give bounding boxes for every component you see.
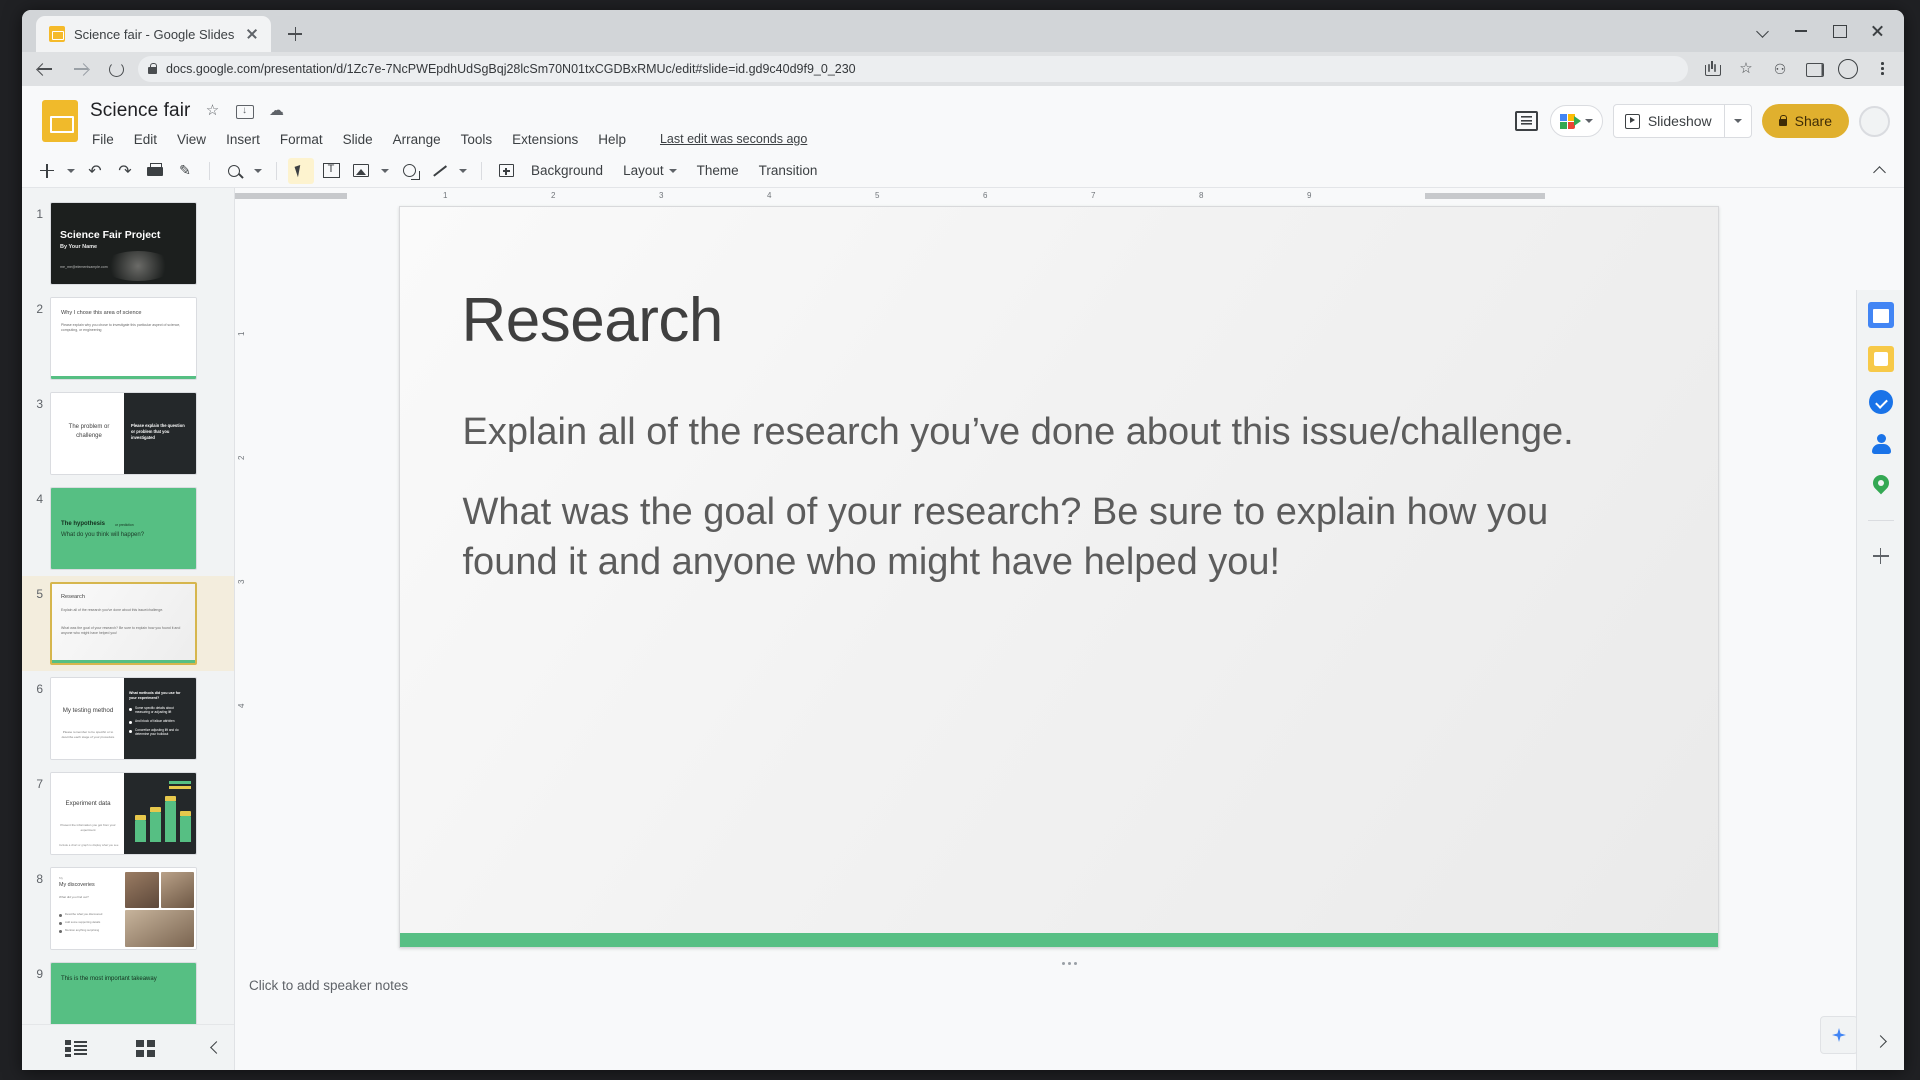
- window-controls: [1746, 16, 1894, 44]
- slide-thumbnail[interactable]: Experiment data Present the information …: [50, 772, 197, 855]
- image-options-icon[interactable]: [378, 158, 392, 184]
- thumbnail-slide-8[interactable]: 8 My My discoveries What did you find ou…: [22, 861, 234, 956]
- header-left: Science fair ☆ ☁ File Edit View Insert F…: [90, 94, 1510, 151]
- thumb-body: What did you find out?: [59, 895, 117, 900]
- slide-thumbnail-active[interactable]: Research Explain all of the research you…: [50, 582, 197, 665]
- side-panel-icon[interactable]: [1804, 59, 1824, 79]
- google-calendar-icon[interactable]: [1868, 302, 1894, 328]
- thumb-body: What methods did you use for your experi…: [129, 691, 188, 701]
- thumbnail-slide-2[interactable]: 2 Why I chose this area of science Pleas…: [22, 291, 234, 386]
- undo-icon[interactable]: ↶: [82, 158, 108, 184]
- slide-thumbnail[interactable]: My My discoveries What did you find out?…: [50, 867, 197, 950]
- horizontal-ruler: 1 2 3 4 5 6 7 8 9: [235, 188, 1904, 204]
- header-actions: Slideshow Share: [1510, 94, 1890, 138]
- google-keep-icon[interactable]: [1868, 346, 1894, 372]
- star-icon[interactable]: ☆: [202, 101, 222, 121]
- google-slides-app: Science fair ☆ ☁ File Edit View Insert F…: [22, 86, 1904, 1070]
- browser-tab[interactable]: Science fair - Google Slides: [36, 16, 271, 52]
- back-icon[interactable]: [34, 58, 56, 80]
- thumb-body: Explain all of the research you've done …: [61, 608, 183, 613]
- reload-icon[interactable]: [109, 62, 124, 77]
- menu-view[interactable]: View: [175, 131, 208, 148]
- cloud-saved-icon: ☁: [266, 101, 286, 121]
- add-ons-icon[interactable]: [1868, 543, 1894, 569]
- slide-title[interactable]: Research: [462, 285, 723, 356]
- rail-divider: [1868, 520, 1894, 521]
- workspace: 1 Science Fair Project By Your Name me_m…: [22, 188, 1904, 1070]
- ruler-tick: 2: [237, 456, 246, 460]
- ruler-tick: 3: [237, 580, 246, 584]
- share-label: Share: [1795, 113, 1832, 129]
- menu-edit[interactable]: Edit: [132, 131, 159, 148]
- slide-thumbnail[interactable]: Science Fair Project By Your Name me_me@…: [50, 202, 197, 285]
- slide-paragraph-2: What was the goal of your research? Be s…: [463, 487, 1638, 587]
- transition-button[interactable]: Transition: [751, 160, 826, 181]
- slide-accent-bar: [400, 933, 1718, 947]
- ruler-tick: 2: [551, 191, 555, 200]
- thumbnail-slide-7[interactable]: 7 Experiment data Present the informatio…: [22, 766, 234, 861]
- slide-number: 9: [26, 962, 43, 981]
- slide-number: 1: [26, 202, 43, 221]
- tab-strip: Science fair - Google Slides: [22, 10, 1904, 52]
- explore-icon: [1830, 1026, 1848, 1044]
- grid-view-icon[interactable]: [134, 1036, 158, 1060]
- chevron-down-icon: [1585, 119, 1593, 123]
- tab-search-icon[interactable]: [1746, 16, 1780, 44]
- vertical-ruler: 1 2 3 4: [235, 204, 249, 960]
- thumbnail-slide-1[interactable]: 1 Science Fair Project By Your Name me_m…: [22, 196, 234, 291]
- slideshow-options-icon[interactable]: [1725, 105, 1751, 137]
- ruler-tick: 9: [1307, 191, 1311, 200]
- line-options-icon[interactable]: [456, 158, 470, 184]
- thumbnail-slide-5[interactable]: 5 Research Explain all of the research y…: [22, 576, 234, 671]
- text-box-icon[interactable]: [318, 158, 344, 184]
- new-slide-options-icon[interactable]: [64, 158, 78, 184]
- thumbnail-slide-4[interactable]: 4 The hypothesis or prediction What do y…: [22, 481, 234, 576]
- ruler-tick: 4: [237, 704, 246, 708]
- speaker-notes-placeholder[interactable]: Click to add speaker notes: [249, 978, 408, 993]
- lock-icon: [148, 67, 157, 74]
- slide-canvas-wrapper: Research Explain all of the research you…: [249, 206, 1868, 966]
- slide-thumbnail[interactable]: Why I chose this area of science Please …: [50, 297, 197, 380]
- filmstrip-view-icon[interactable]: [64, 1036, 88, 1060]
- document-title[interactable]: Science fair: [90, 100, 190, 122]
- menu-insert[interactable]: Insert: [224, 131, 262, 148]
- slide-filmstrip: 1 Science Fair Project By Your Name me_m…: [22, 188, 235, 1070]
- shape-icon[interactable]: [396, 158, 422, 184]
- thumb-title: My testing method: [59, 706, 117, 716]
- omnibox-bar: docs.google.com/presentation/d/1Zc7e-7Nc…: [22, 52, 1904, 86]
- select-tool-icon[interactable]: [288, 158, 314, 184]
- menu-extensions[interactable]: Extensions: [510, 131, 580, 148]
- speaker-notes-bar[interactable]: Click to add speaker notes: [235, 964, 1904, 1008]
- filmstrip-scroll[interactable]: 1 Science Fair Project By Your Name me_m…: [22, 188, 234, 1024]
- slides-app-icon: [42, 100, 78, 142]
- add-slide-layout-icon[interactable]: [493, 158, 519, 184]
- thumb-title: Experiment data: [59, 799, 117, 809]
- redo-icon[interactable]: ↷: [112, 158, 138, 184]
- meet-button[interactable]: [1550, 105, 1603, 137]
- thumb-title: The problem or challenge: [61, 423, 117, 441]
- slide-body[interactable]: Explain all of the research you’ve done …: [463, 407, 1638, 587]
- thumb-subtitle: By Your Name: [60, 244, 97, 250]
- thumb-body: Please explain why you chose to investig…: [61, 323, 182, 334]
- active-slide-canvas[interactable]: Research Explain all of the research you…: [399, 206, 1719, 948]
- menu-arrange[interactable]: Arrange: [391, 131, 443, 148]
- minimize-icon[interactable]: [1784, 16, 1818, 44]
- thumbnail-slide-9[interactable]: 9 This is the most important takeaway: [22, 956, 234, 1024]
- slide-number: 5: [26, 582, 43, 601]
- thumbnail-slide-6[interactable]: 6 My testing method Please remember to b…: [22, 671, 234, 766]
- menu-bar: File Edit View Insert Format Slide Arran…: [90, 127, 1510, 151]
- url-text: docs.google.com/presentation/d/1Zc7e-7Nc…: [166, 62, 1678, 76]
- google-tasks-icon[interactable]: [1869, 390, 1893, 414]
- thumb-title: Research: [61, 594, 85, 600]
- chevron-down-icon: [669, 169, 677, 173]
- slide-number: 7: [26, 772, 43, 791]
- theme-button[interactable]: Theme: [689, 160, 747, 181]
- slide-thumbnail[interactable]: The hypothesis or prediction What do you…: [50, 487, 197, 570]
- menu-format[interactable]: Format: [278, 131, 325, 148]
- paint-format-icon[interactable]: ✎: [172, 158, 198, 184]
- thumb-subtitle: or prediction: [115, 523, 134, 527]
- ruler-tick: 7: [1091, 191, 1095, 200]
- menu-help[interactable]: Help: [596, 131, 628, 148]
- slide-thumbnail[interactable]: My testing method Please remember to be …: [50, 677, 197, 760]
- expand-rail-icon[interactable]: [1868, 1028, 1894, 1054]
- slide-thumbnail[interactable]: The problem or challenge Please explain …: [50, 392, 197, 475]
- thumb-caption: me_me@elementsample.com: [60, 265, 108, 269]
- browser-tab-title: Science fair - Google Slides: [74, 27, 234, 42]
- thumbnail-slide-3[interactable]: 3 The problem or challenge Please explai…: [22, 386, 234, 481]
- play-icon: [1625, 114, 1640, 129]
- bookmark-star-icon[interactable]: ☆: [1736, 59, 1756, 79]
- slides-favicon-icon: [49, 26, 65, 42]
- thumb-title: Science Fair Project: [60, 229, 160, 241]
- extensions-icon[interactable]: ⚇: [1770, 59, 1790, 79]
- comment-history-icon[interactable]: [1510, 106, 1540, 136]
- line-icon[interactable]: [426, 158, 452, 184]
- editor-toolbar: ↶ ↷ ✎ Background Layout: [22, 154, 1904, 188]
- share-button[interactable]: Share: [1762, 104, 1849, 138]
- forward-icon[interactable]: [70, 58, 92, 80]
- layout-label: Layout: [623, 163, 664, 178]
- last-edit-status[interactable]: Last edit was seconds ago: [660, 132, 807, 146]
- collapse-toolbar-icon[interactable]: [1866, 158, 1892, 184]
- slideshow-label: Slideshow: [1648, 113, 1712, 129]
- thumb-body2: What was the goal of your research? Be s…: [61, 626, 185, 637]
- maximize-icon[interactable]: [1822, 16, 1856, 44]
- google-maps-icon[interactable]: [1871, 474, 1891, 498]
- thumb-body: Please explain the question or problem t…: [131, 423, 188, 441]
- menu-file[interactable]: File: [90, 131, 116, 148]
- title-row: Science fair ☆ ☁: [90, 98, 1510, 124]
- thumb-title: This is the most important takeaway: [61, 975, 166, 984]
- lock-icon: [1779, 119, 1787, 126]
- share-page-icon[interactable]: [1702, 59, 1722, 79]
- notes-resize-handle[interactable]: [1059, 960, 1081, 967]
- layout-button[interactable]: Layout: [615, 160, 685, 181]
- print-icon[interactable]: [142, 158, 168, 184]
- zoom-icon[interactable]: [221, 158, 247, 184]
- app-header: Science fair ☆ ☁ File Edit View Insert F…: [22, 86, 1904, 154]
- slide-paragraph-1: Explain all of the research you’ve done …: [463, 407, 1638, 457]
- zoom-options-icon[interactable]: [251, 158, 265, 184]
- browser-window: Science fair - Google Slides docs.google…: [22, 10, 1904, 1070]
- ruler-tick: 1: [237, 332, 246, 336]
- screen: Science fair - Google Slides docs.google…: [0, 0, 1920, 1080]
- thumb-body: Present the information you got from you…: [59, 823, 117, 832]
- browser-menu-icon[interactable]: [1872, 59, 1892, 79]
- close-window-icon[interactable]: [1860, 16, 1894, 44]
- ruler-tick: 8: [1199, 191, 1203, 200]
- profile-avatar-icon[interactable]: [1838, 59, 1858, 79]
- google-meet-icon: [1560, 114, 1582, 129]
- collapse-filmstrip-icon[interactable]: [204, 1036, 228, 1060]
- menu-slide[interactable]: Slide: [341, 131, 375, 148]
- slide-number: 3: [26, 392, 43, 411]
- ruler-tick: 6: [983, 191, 987, 200]
- menu-tools[interactable]: Tools: [459, 131, 495, 148]
- ruler-tick: 3: [659, 191, 663, 200]
- thumb-title: My discoveries: [59, 882, 95, 888]
- ruler-tick: 4: [767, 191, 771, 200]
- insert-image-icon[interactable]: [348, 158, 374, 184]
- thumb-body: What do you think will happen?: [61, 531, 174, 540]
- ruler-tick: 1: [443, 191, 447, 200]
- slideshow-button[interactable]: Slideshow: [1613, 104, 1752, 138]
- slide-thumbnail[interactable]: This is the most important takeaway: [50, 962, 197, 1024]
- new-tab-button[interactable]: [281, 20, 309, 48]
- google-contacts-icon[interactable]: [1869, 432, 1893, 456]
- close-tab-icon[interactable]: [243, 25, 261, 43]
- slide-number: 6: [26, 677, 43, 696]
- thumb-title: Why I chose this area of science: [61, 310, 186, 316]
- ruler-tick: 5: [875, 191, 879, 200]
- user-avatar[interactable]: [1859, 106, 1890, 137]
- move-to-folder-icon[interactable]: [234, 101, 254, 121]
- background-button[interactable]: Background: [523, 160, 611, 181]
- filmstrip-bottom-bar: [22, 1024, 234, 1070]
- new-slide-icon[interactable]: [34, 158, 60, 184]
- thumb-title: The hypothesis: [61, 521, 105, 527]
- slide-number: 2: [26, 297, 43, 316]
- side-apps-rail: [1856, 290, 1904, 1070]
- canvas-area: 1 2 3 4 5 6 7 8 9 1 2 3 4: [235, 188, 1904, 1070]
- slide-number: 8: [26, 867, 43, 886]
- url-bar[interactable]: docs.google.com/presentation/d/1Zc7e-7Nc…: [138, 56, 1688, 82]
- slide-number: 4: [26, 487, 43, 506]
- explore-button[interactable]: [1820, 1016, 1858, 1054]
